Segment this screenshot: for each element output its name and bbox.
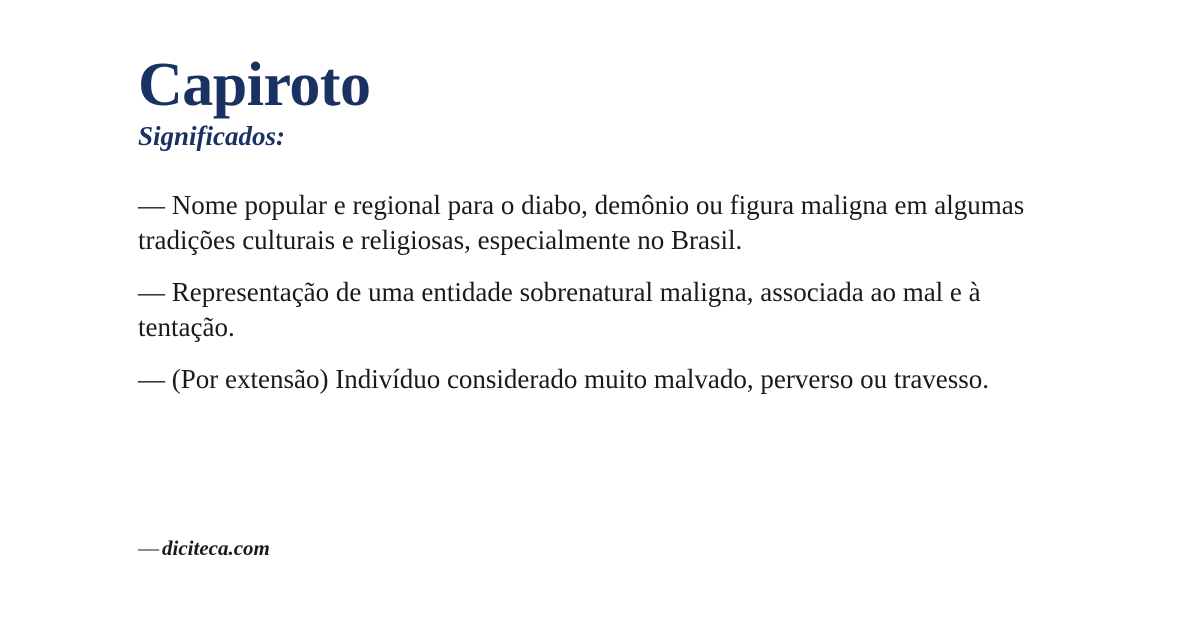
em-dash-marker: — <box>138 536 162 560</box>
list-item: — Representação de uma entidade sobrenat… <box>138 275 1068 345</box>
list-item: — (Por extensão) Indivíduo considerado m… <box>138 362 1068 397</box>
definition-text: (Por extensão) Indivíduo considerado mui… <box>172 364 989 394</box>
source-domain: diciteca.com <box>162 536 270 560</box>
page-title: Capiroto <box>138 52 1078 118</box>
definition-text: Nome popular e regional para o diabo, de… <box>138 190 1024 255</box>
definition-list: — Nome popular e regional para o diabo, … <box>138 188 1068 397</box>
definition-text: Representação de uma entidade sobrenatur… <box>138 277 981 342</box>
list-item: — Nome popular e regional para o diabo, … <box>138 188 1068 258</box>
definition-card: Capiroto Significados: — Nome popular e … <box>0 0 1200 628</box>
em-dash-marker: — <box>138 190 165 220</box>
em-dash-marker: — <box>138 277 165 307</box>
entry-content: Capiroto Significados: — Nome popular e … <box>138 52 1078 397</box>
em-dash-marker: — <box>138 364 165 394</box>
meanings-label: Significados: <box>138 118 1078 152</box>
source-attribution: —diciteca.com <box>138 534 270 562</box>
